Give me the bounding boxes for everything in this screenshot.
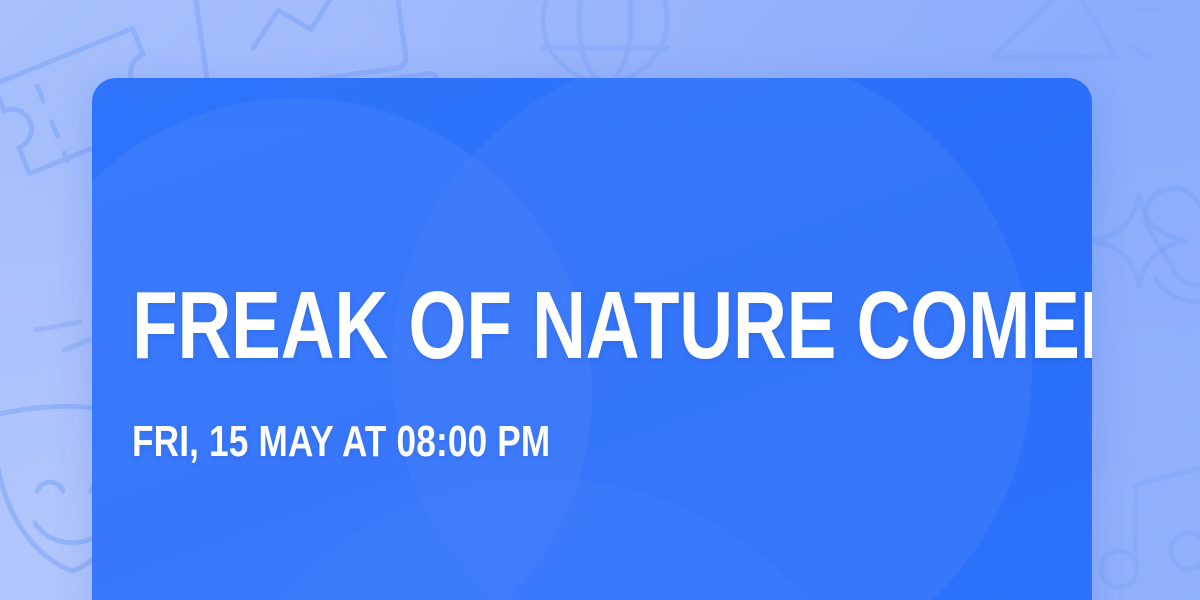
event-card[interactable]: FREAK OF NATURE COMEDY FRI, 15 MAY AT 08… — [92, 78, 1092, 600]
globe-icon — [543, 0, 667, 82]
event-card-content: FREAK OF NATURE COMEDY FRI, 15 MAY AT 08… — [132, 78, 992, 600]
banner-canvas: FREAK OF NATURE COMEDY FRI, 15 MAY AT 08… — [0, 0, 1200, 600]
microphone-icon — [1118, 167, 1200, 354]
sparkle-icon — [1093, 195, 1185, 287]
event-datetime: FRI, 15 MAY AT 08:00 PM — [132, 420, 550, 464]
music-note-icon — [1101, 467, 1200, 587]
event-title: FREAK OF NATURE COMEDY — [132, 278, 1092, 374]
